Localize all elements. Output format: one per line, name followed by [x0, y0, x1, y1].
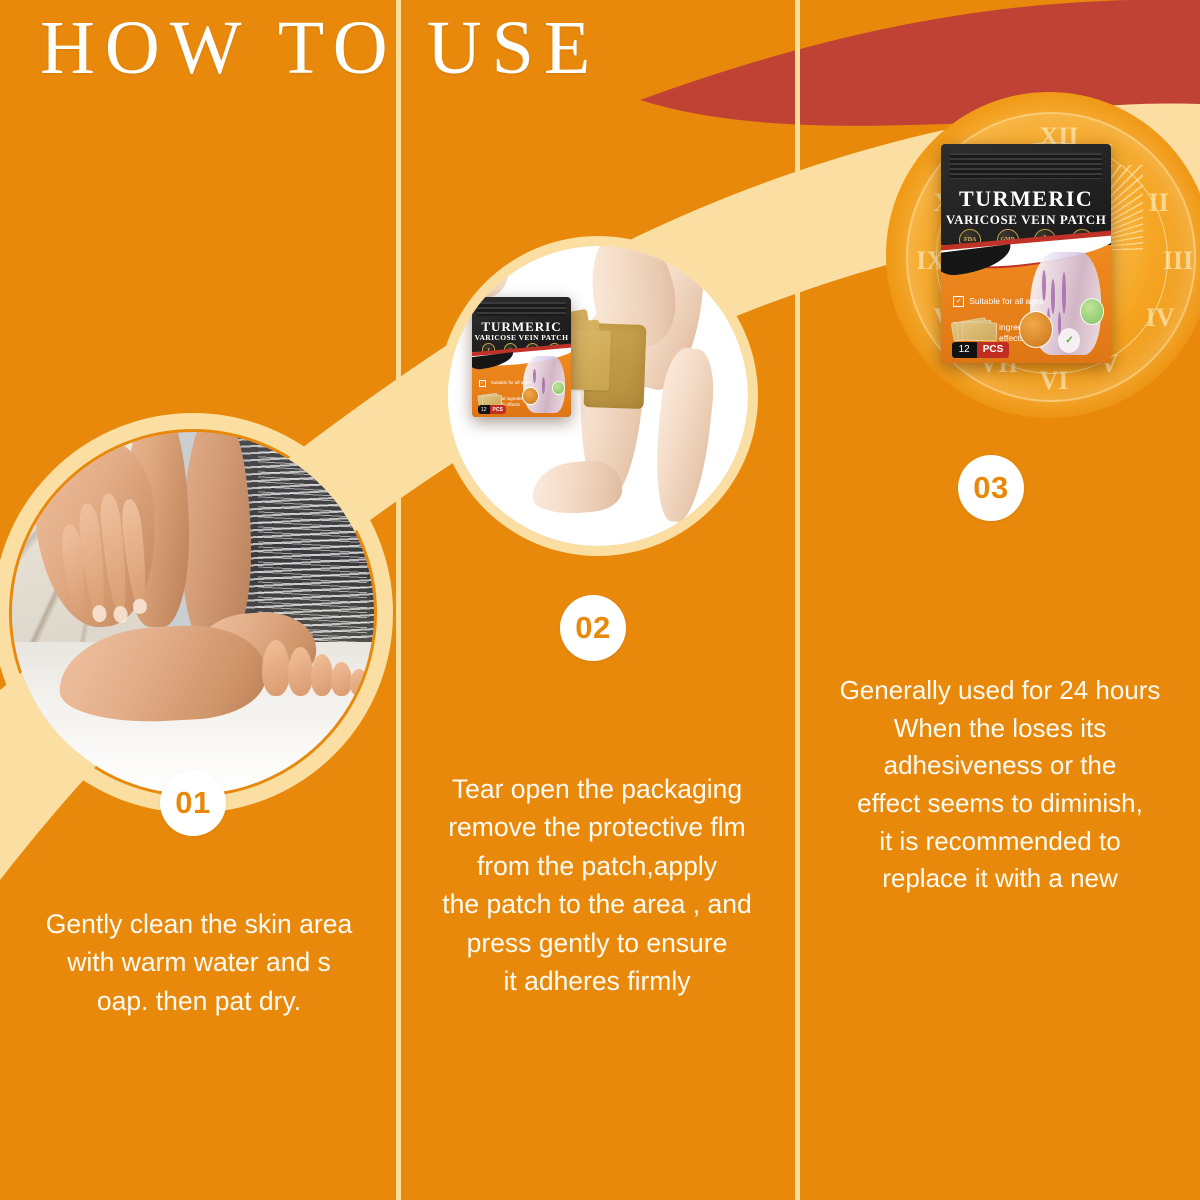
vein-line: [1051, 279, 1055, 314]
vein-line: [1062, 272, 1066, 314]
toe: [288, 647, 313, 696]
package-lower-panel: ✓ Suitable for all ages ✓ Natural ingred…: [941, 245, 1111, 363]
package-subtitle: VARICOSE VEIN PATCH: [472, 333, 571, 342]
package-bullet-text: Suitable for all ages: [491, 380, 531, 386]
shower-scene: [12, 432, 374, 794]
clock-numeral: IV: [1146, 303, 1175, 333]
page-title: HOW TO USE: [40, 10, 600, 86]
step-01-photo: [12, 432, 374, 794]
quantity-value: 12: [478, 405, 490, 414]
clock-numeral: II: [1149, 188, 1169, 218]
clock-numeral: III: [1163, 246, 1193, 276]
step-02-description: Tear open the packaging remove the prote…: [404, 770, 790, 1001]
patch-sheet: [962, 322, 997, 342]
toe: [262, 640, 290, 697]
toe: [311, 654, 334, 696]
package-quantity-badge: 12 PCS: [478, 405, 506, 414]
package-bullet-text: Suitable for all ages: [969, 296, 1044, 307]
toe: [350, 669, 368, 696]
package-zipper: [950, 153, 1103, 179]
infographic-canvas: HOW TO USE: [0, 0, 1200, 1200]
quantity-value: 12: [952, 342, 977, 358]
package-bullet: ✓ Suitable for all ages: [479, 380, 531, 387]
vein-line: [542, 377, 545, 394]
loose-patch: [567, 329, 611, 390]
column-divider-1: [396, 0, 401, 1200]
clock-glow-scene: XII I II III IV V VI VII VIII IX X XI TU…: [886, 92, 1200, 418]
leaf-icon: [1080, 298, 1104, 325]
patch-stack-illustration: [952, 318, 1006, 344]
package-subtitle: VARICOSE VEIN PATCH: [941, 212, 1111, 228]
package-quantity-badge: 12 PCS: [952, 342, 1010, 358]
step-03-description: Generally used for 24 hours When the los…: [802, 672, 1198, 898]
leg-patch-scene: TURMERIC VARICOSE VEIN PATCH F G ⚕ CE: [448, 246, 748, 546]
front-foot: [530, 458, 624, 517]
column-divider-2: [795, 0, 800, 1200]
checkbox-icon: ✓: [953, 296, 964, 307]
product-package-small: TURMERIC VARICOSE VEIN PATCH F G ⚕ CE: [472, 297, 571, 417]
step-02-badge: 02: [560, 595, 626, 661]
product-package-large: TURMERIC VARICOSE VEIN PATCH FDA GMP ⚕ C…: [941, 144, 1111, 362]
quantity-unit: PCS: [977, 342, 1010, 358]
fingernail: [91, 604, 107, 622]
leaf-icon: [552, 381, 565, 395]
step-02-photo: TURMERIC VARICOSE VEIN PATCH F G ⚕ CE: [448, 246, 748, 546]
step-01-badge: 01: [160, 770, 226, 836]
step-03-badge: 03: [958, 455, 1024, 521]
vein-line: [533, 369, 536, 384]
knee: [448, 246, 508, 300]
package-bullet: ✓ Suitable for all ages: [953, 296, 1044, 307]
quantity-unit: PCS: [490, 405, 506, 414]
step-01-description: Gently clean the skin area with warm wat…: [6, 905, 392, 1020]
checkbox-icon: ✓: [479, 380, 486, 387]
step-03-photo: XII I II III IV V VI VII VIII IX X XI TU…: [886, 92, 1200, 418]
package-brand: TURMERIC: [941, 186, 1111, 212]
toe: [331, 662, 352, 696]
package-zipper: [477, 302, 566, 316]
clock-numeral: VI: [1040, 366, 1069, 396]
package-lower-panel: ✓ Suitable for all ages ✓ Natural ingred…: [472, 352, 571, 417]
toes-group: [262, 635, 371, 697]
